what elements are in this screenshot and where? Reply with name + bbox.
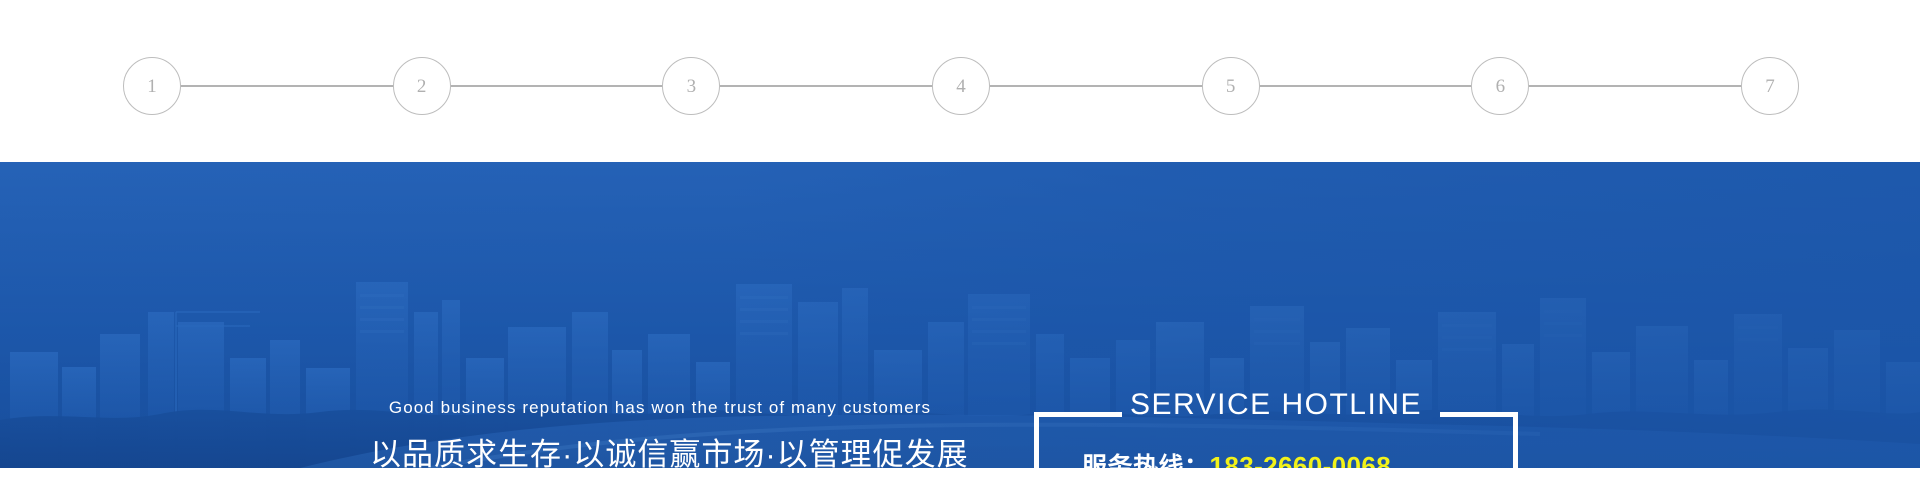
service-hotline-box: SERVICE HOTLINE 服务热线： 183-2660-0068 0551… bbox=[1034, 412, 1518, 468]
stepper-connector-line bbox=[1260, 85, 1472, 87]
promo-banner: Good business reputation has won the tru… bbox=[0, 162, 1920, 468]
city-skyline-background-image bbox=[0, 162, 1920, 468]
stepper-node-label: 4 bbox=[956, 77, 966, 96]
stepper-node-2[interactable]: 2 bbox=[393, 57, 451, 115]
stepper-connector-line bbox=[181, 85, 393, 87]
stepper-node-3[interactable]: 3 bbox=[662, 57, 720, 115]
slogan-headline: 以品质求生存·以诚信赢市场·以管理促发展 bbox=[370, 436, 950, 468]
hotline-rows: 服务热线： 183-2660-0068 0551-63749777 bbox=[1034, 450, 1518, 468]
stepper-connector-line bbox=[451, 85, 663, 87]
stepper-node-label: 1 bbox=[147, 77, 157, 96]
hotline-label: 服务热线： bbox=[1082, 452, 1210, 468]
stepper-node-label: 7 bbox=[1765, 77, 1775, 96]
slogan-english: Good business reputation has won the tru… bbox=[370, 398, 950, 418]
stepper-node-5[interactable]: 5 bbox=[1202, 57, 1260, 115]
stepper-node-label: 5 bbox=[1226, 77, 1236, 96]
stepper-strip: 1234567 bbox=[0, 0, 1920, 162]
slogan-block: Good business reputation has won the tru… bbox=[370, 398, 950, 468]
stepper-node-label: 3 bbox=[687, 77, 697, 96]
stepper-connector-line bbox=[720, 85, 932, 87]
stepper-node-label: 2 bbox=[417, 77, 427, 96]
hotline-number-primary[interactable]: 183-2660-0068 bbox=[1210, 450, 1392, 468]
stepper-node-6[interactable]: 6 bbox=[1471, 57, 1529, 115]
stepper-node-label: 6 bbox=[1496, 77, 1506, 96]
stepper-node-4[interactable]: 4 bbox=[932, 57, 990, 115]
stepper-connector-line bbox=[1529, 85, 1741, 87]
hotline-row-primary: 服务热线： 183-2660-0068 bbox=[1034, 450, 1518, 468]
stepper-connector-line bbox=[990, 85, 1202, 87]
stepper-node-7[interactable]: 7 bbox=[1741, 57, 1799, 115]
service-hotline-title: SERVICE HOTLINE bbox=[1034, 390, 1518, 420]
stepper-node-1[interactable]: 1 bbox=[123, 57, 181, 115]
